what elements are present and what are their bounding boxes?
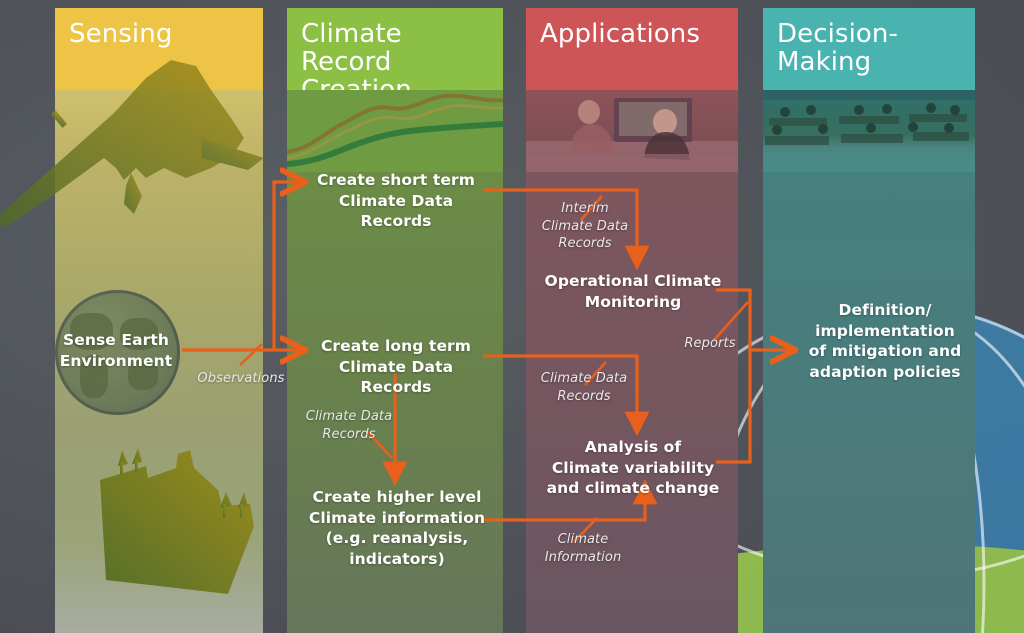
conference-hall-icon [763,90,975,172]
node-long-term-cdr: Create long termClimate Data Records [305,336,487,398]
label-cdr-to-higher-level: Climate DataRecords [293,408,405,443]
climate-record-photo [287,90,503,172]
ground-station-icon [98,448,278,598]
satellite-icon [0,18,276,248]
diagram-canvas: Sensing [0,0,1024,633]
column-header-applications: Applications [526,8,738,90]
people-at-screen-icon [526,90,738,172]
label-cdr-to-analysis: Climate DataRecords [528,370,640,405]
node-higher-level-info: Create higher levelClimate information(e… [288,487,506,569]
column-title: Applications [526,8,738,48]
column-header-climate-record-creation: Climate Record Creation [287,8,503,90]
decision-making-photo [763,90,975,172]
label-climate-information: ClimateInformation [528,531,638,566]
node-analysis: Analysis ofClimate variabilityand climat… [540,437,726,499]
column-header-decision-making: Decision-Making [763,8,975,90]
applications-photo [526,90,738,172]
decision-making-body [763,172,975,633]
node-sense-earth: Sense EarthEnvironment [48,330,184,371]
node-policies: Definition/implementationof mitigation a… [795,300,975,382]
node-operational-monitoring: Operational ClimateMonitoring [540,271,726,312]
column-title: Decision-Making [763,8,975,76]
label-reports: Reports [670,335,750,353]
node-short-term-cdr: Create short termClimate Data Records [305,170,487,232]
label-interim-cdr: InterimClimate DataRecords [530,200,640,253]
label-observations: Observations [186,370,296,388]
time-series-graph-icon [287,90,503,172]
